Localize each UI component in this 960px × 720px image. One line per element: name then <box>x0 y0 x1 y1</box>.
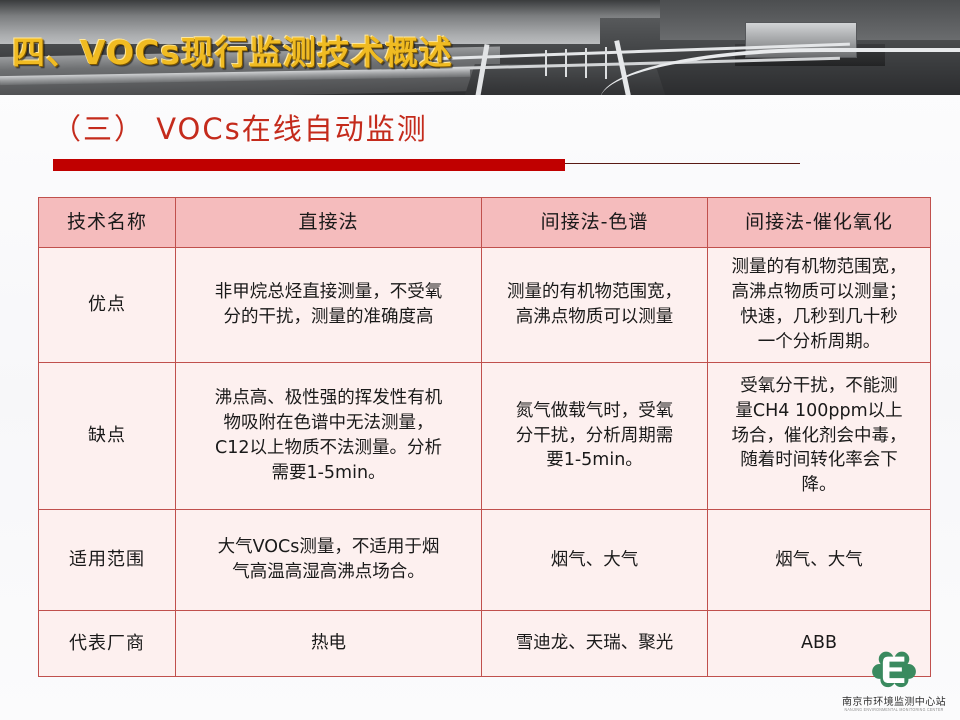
banner-railing-post <box>605 47 607 79</box>
cell-disadvantages-catox: 受氧分干扰，不能测 量CH4 100ppm以上 场合，催化剂会中毒， 随着时间转… <box>708 363 931 510</box>
cell-line: 受氧分干扰，不能测 <box>715 374 923 399</box>
cell-line: 大气VOCs测量，不适用于烟 <box>183 535 474 560</box>
cell-line: 随着时间转化率会下 <box>715 448 923 473</box>
cell-disadvantages-direct: 沸点高、极性强的挥发性有机 物吸附在色谱中无法测量， C12以上物质不法测量。分… <box>176 363 482 510</box>
cell-line: 物吸附在色谱中无法测量， <box>183 411 474 436</box>
cell-line: 分干扰，分析周期需 <box>489 424 700 449</box>
banner-railing-post <box>545 50 547 76</box>
table-row: 优点 非甲烷总烃直接测量，不受氧 分的干扰，测量的准确度高 测量的有机物范围宽，… <box>39 248 931 363</box>
cell-line: 降。 <box>715 473 923 498</box>
org-name-en: NANJING ENVIRONMENTAL MONITORING CENTER <box>840 708 948 713</box>
cell-scope-direct: 大气VOCs测量，不适用于烟 气高温高湿高沸点场合。 <box>176 510 482 611</box>
cell-vendors-gc: 雪迪龙、天瑞、聚光 <box>482 611 708 677</box>
row-label-scope: 适用范围 <box>39 510 176 611</box>
cell-line: 测量的有机物范围宽， <box>489 280 700 305</box>
banner-railing-post <box>565 49 567 77</box>
title-underline-bar <box>53 159 565 171</box>
cell-line: 雪迪龙、天瑞、聚光 <box>489 631 700 656</box>
chapter-title: 四、VOCs现行监测技术概述 <box>12 26 453 74</box>
col-header-indirect-gc: 间接法-色谱 <box>482 198 708 248</box>
cell-advantages-gc: 测量的有机物范围宽， 高沸点物质可以测量 <box>482 248 708 363</box>
cell-line: 气高温高湿高沸点场合。 <box>183 560 474 585</box>
cell-line: 需要1-5min。 <box>183 461 474 486</box>
row-label-vendors: 代表厂商 <box>39 611 176 677</box>
cell-line: 分的干扰，测量的准确度高 <box>183 305 474 330</box>
cell-scope-catox: 烟气、大气 <box>708 510 931 611</box>
table-row: 适用范围 大气VOCs测量，不适用于烟 气高温高湿高沸点场合。 烟气、大气 烟气… <box>39 510 931 611</box>
table-row: 缺点 沸点高、极性强的挥发性有机 物吸附在色谱中无法测量， C12以上物质不法测… <box>39 363 931 510</box>
cell-line: 热电 <box>183 631 474 656</box>
cell-line: 高沸点物质可以测量 <box>489 305 700 330</box>
cell-line: 氮气做载气时，受氧 <box>489 399 700 424</box>
cell-line: 高沸点物质可以测量； <box>715 280 923 305</box>
title-underline <box>53 157 803 171</box>
table-header: 技术名称 直接法 间接法-色谱 间接法-催化氧化 <box>39 198 931 248</box>
section-title: （三） VOCs在线自动监测 <box>52 106 428 148</box>
footer-logo: 南京市环境监测中心站 NANJING ENVIRONMENTAL MONITOR… <box>840 650 948 712</box>
col-header-indirect-catox: 间接法-催化氧化 <box>708 198 931 248</box>
cell-line: 烟气、大气 <box>715 548 923 573</box>
cell-disadvantages-gc: 氮气做载气时，受氧 分干扰，分析周期需 要1-5min。 <box>482 363 708 510</box>
cell-line: 一个分析周期。 <box>715 330 923 355</box>
col-header-direct: 直接法 <box>176 198 482 248</box>
cell-advantages-direct: 非甲烷总烃直接测量，不受氧 分的干扰，测量的准确度高 <box>176 248 482 363</box>
org-name-cn: 南京市环境监测中心站 <box>840 693 948 708</box>
table-body: 优点 非甲烷总烃直接测量，不受氧 分的干扰，测量的准确度高 测量的有机物范围宽，… <box>39 248 931 677</box>
cell-line: C12以上物质不法测量。分析 <box>183 436 474 461</box>
cell-vendors-direct: 热电 <box>176 611 482 677</box>
slide: 四、VOCs现行监测技术概述 （三） VOCs在线自动监测 技术名称 直接法 间… <box>0 0 960 720</box>
cell-advantages-catox: 测量的有机物范围宽， 高沸点物质可以测量； 快速，几秒到几十秒 一个分析周期。 <box>708 248 931 363</box>
row-label-disadvantages: 缺点 <box>39 363 176 510</box>
banner-railing-post <box>585 48 587 78</box>
title-underline-line <box>565 163 800 164</box>
clover-e-logo-icon <box>868 650 921 688</box>
cell-line: 非甲烷总烃直接测量，不受氧 <box>183 280 474 305</box>
cell-line: 场合，催化剂会中毒， <box>715 424 923 449</box>
table-row: 代表厂商 热电 雪迪龙、天瑞、聚光 ABB <box>39 611 931 677</box>
cell-line: 快速，几秒到几十秒 <box>715 305 923 330</box>
cell-line: 测量的有机物范围宽， <box>715 255 923 280</box>
table-header-row: 技术名称 直接法 间接法-色谱 间接法-催化氧化 <box>39 198 931 248</box>
cell-line: 量CH4 100ppm以上 <box>715 399 923 424</box>
cell-line: 烟气、大气 <box>489 548 700 573</box>
cell-line: 要1-5min。 <box>489 448 700 473</box>
comparison-table: 技术名称 直接法 间接法-色谱 间接法-催化氧化 优点 非甲烷总烃直接测量，不受… <box>38 197 931 677</box>
row-label-advantages: 优点 <box>39 248 176 363</box>
cell-scope-gc: 烟气、大气 <box>482 510 708 611</box>
col-header-technique: 技术名称 <box>39 198 176 248</box>
cell-line: 沸点高、极性强的挥发性有机 <box>183 386 474 411</box>
